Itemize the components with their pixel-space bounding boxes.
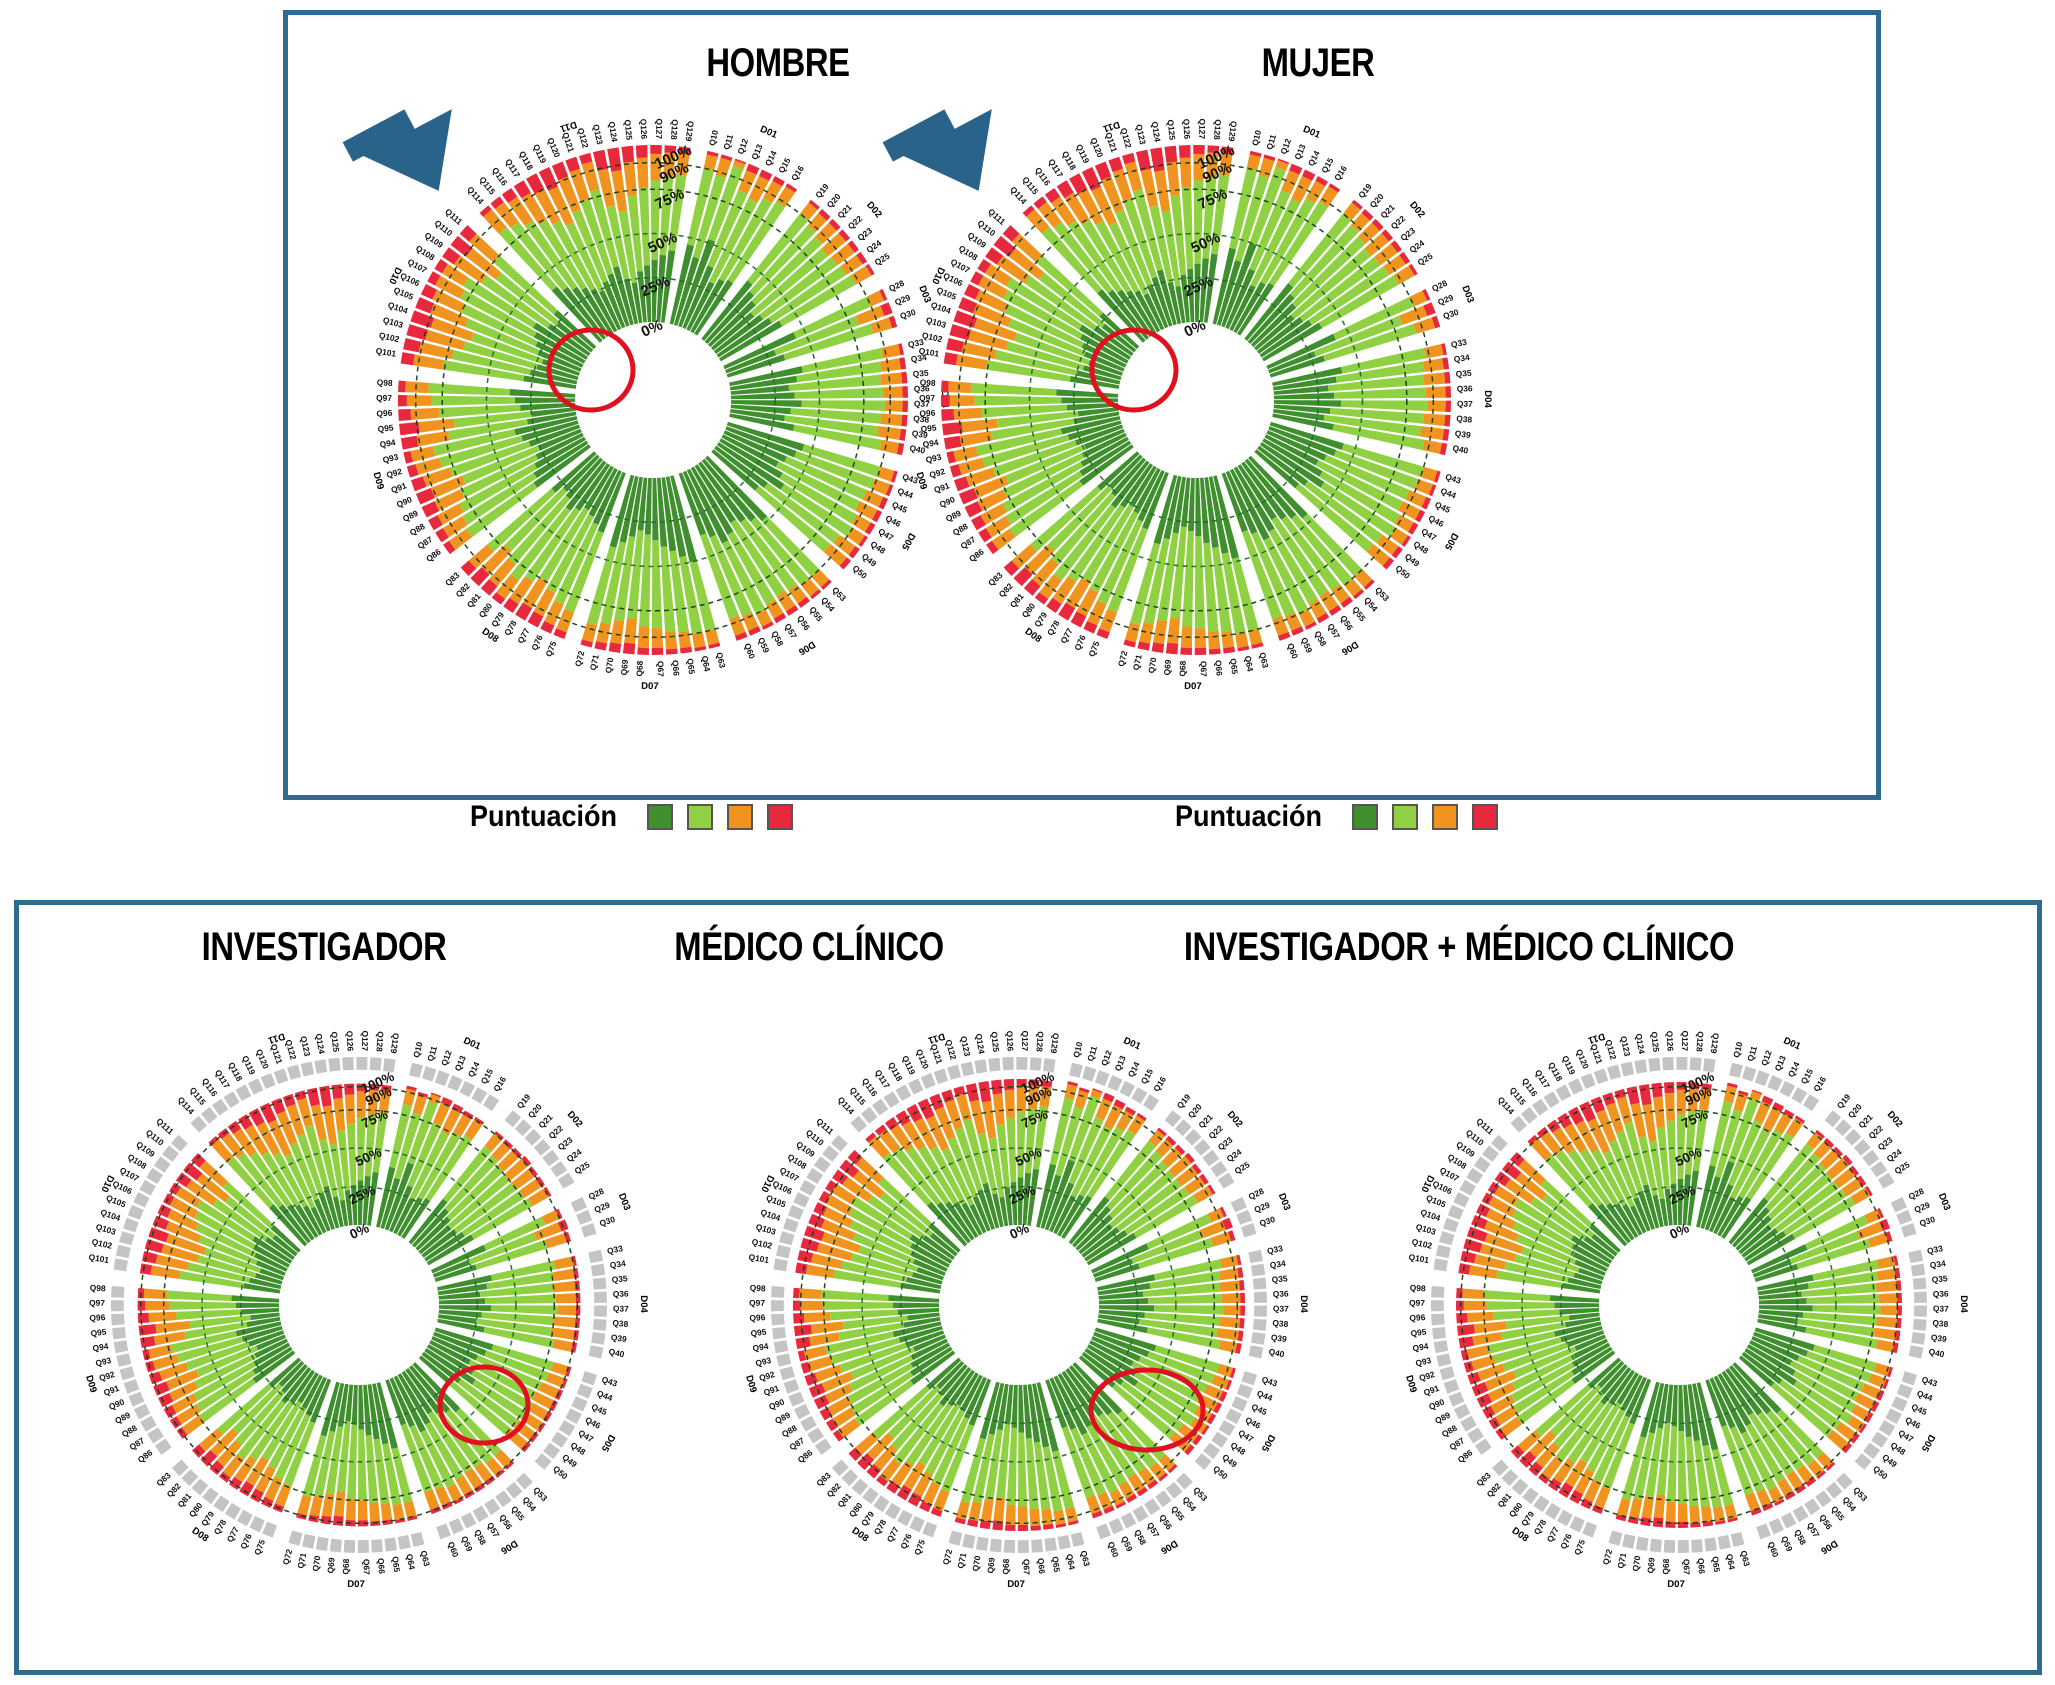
bar-segment-gray [1144,1498,1160,1515]
bar-segment-gray [807,1427,824,1443]
question-label: Q91 [102,1383,121,1398]
bar-segment-gray [885,1503,901,1520]
question-label: Q87 [1447,1435,1466,1452]
question-label: Q70 [1630,1555,1642,1572]
bar-segment-gray [559,1420,576,1436]
bar-segment-gray [800,1416,817,1432]
bar-segment-gray [551,1161,568,1177]
bar-segment-orange [801,1301,824,1311]
question-label: Q30 [598,1214,616,1229]
bar-segment-gray [1071,1532,1085,1547]
bar-segment-gray [111,1314,124,1326]
bar-segment-gray [1755,1070,1770,1086]
bar-segment-gray [591,1332,605,1345]
legend-swatch-light-green [1392,804,1418,830]
question-label: Q11 [425,1045,439,1063]
bar-segment-gray [1434,1258,1448,1271]
bar-segment-gray [112,1327,126,1339]
question-label: Q14 [466,1060,482,1079]
domain-label: D10 [1418,1173,1436,1194]
bar-segment-orange [1474,1321,1507,1333]
question-label: Q105 [392,285,415,302]
bar-segment-orange [1462,1288,1484,1298]
bar-segment-orange [1880,1305,1897,1315]
question-label: Q127 [654,118,664,139]
bar-segment-gray [1454,1404,1470,1419]
bar-segment-gray [435,1070,450,1086]
question-label: Q10 [707,129,721,147]
question-label: Q102 [751,1236,774,1250]
bar-segment-gray [1236,1210,1252,1225]
bar-segment-gray [1569,1516,1584,1532]
question-label: Q86 [967,546,986,564]
domain-label: D06 [1159,1537,1180,1556]
question-label: Q93 [1414,1355,1432,1368]
question-label: Q36 [1273,1288,1289,1299]
bar-segment-gray [1031,1539,1043,1553]
question-label: Q13 [1292,142,1308,161]
question-label: Q123 [958,1035,972,1057]
question-label: Q16 [789,163,806,182]
question-label: Q123 [298,1035,312,1057]
bar-segment-gray [128,1392,144,1407]
domain-label: D07 [1667,1579,1685,1590]
bar-segment-red [944,352,958,365]
bar-segment-red [575,1318,580,1328]
bar-segment-gray [1044,1537,1057,1551]
question-label: Q13 [452,1054,468,1073]
bar-segment-orange [411,408,440,420]
question-label: Q53 [1373,585,1391,604]
domain-label: D09 [743,1374,759,1394]
bar-segment-orange [145,1301,170,1311]
question-label: Q98 [919,377,936,388]
question-label: Q103 [95,1222,118,1237]
legend-swatch-dark-green [1352,804,1378,830]
question-label: Q90 [1427,1396,1446,1412]
question-label: Q95 [1410,1327,1427,1339]
question-label: Q34 [1269,1258,1286,1270]
question-label: Q92 [758,1369,776,1383]
bar-segment-gray [1018,1540,1029,1553]
question-label: Q12 [735,137,750,156]
question-label: Q92 [98,1369,116,1383]
top-panel: HOMBRE MUJER Q10Q11Q12Q13Q14Q15Q16D01Q19… [283,10,1881,800]
bar-segment-gray [1444,1379,1460,1394]
bar-segment-orange [553,1281,575,1292]
question-label: Q125 [989,1031,1001,1053]
bar-segment-gray [788,1392,804,1407]
question-label: Q97 [919,393,935,403]
question-label: Q12 [439,1049,454,1068]
bar-segment-orange [981,1499,994,1522]
bar-segment-orange [1701,1506,1712,1522]
bar-segment-gray [948,1531,962,1546]
question-label: Q22 [846,213,865,231]
question-label: Q36 [1933,1288,1949,1299]
question-label: Q39 [1454,428,1471,440]
bar-segment-gray [1704,1537,1717,1551]
question-label: Q55 [1829,1504,1847,1523]
bar-segment-orange [334,1491,345,1516]
bar-segment-orange [665,631,677,649]
question-label: Q58 [1313,629,1329,648]
question-label: Q24 [1225,1146,1244,1163]
question-label: Q119 [531,142,549,165]
question-label: Q127 [1020,1030,1030,1051]
bar-segment-gray [1459,1180,1475,1196]
bar-segment-gray [1896,1210,1912,1225]
bar-segment-orange [1713,1507,1725,1522]
bar-segment-red [139,1324,157,1336]
question-label: Q64 [700,655,713,673]
bar-segment-gray [1891,1396,1907,1411]
chart-title-investigador-medico: INVESTIGADOR + MÉDICO CLÍNICO [1131,925,1787,970]
bar-segment-gray [1791,1087,1807,1104]
bar-segment-gray [1431,1300,1444,1311]
bar-segment-gray [111,1286,124,1298]
domain-label: D06 [1819,1537,1840,1556]
bar-segment-red [1651,1083,1662,1098]
bar-segment-gray [1237,1384,1253,1399]
bar-segment-gray [342,1057,354,1070]
question-label: Q94 [922,437,940,450]
bar-segment-red [1444,415,1450,427]
question-label: Q88 [951,521,970,538]
radial-plot: Q10Q11Q12Q13Q14Q15Q16D01Q19Q20Q21Q22Q23Q… [699,985,1339,1625]
question-label: Q79 [199,1509,216,1528]
question-label: Q128 [1034,1031,1045,1052]
bar-segment-gray [1544,1091,1560,1108]
question-label: Q37 [1457,399,1473,409]
question-label: Q125 [623,119,635,141]
bar-segment-gray [1557,1510,1573,1526]
question-label: Q57 [1326,622,1343,641]
question-label: Q120 [1574,1048,1591,1071]
question-label: Q64 [404,1553,417,1571]
bar-segment-gray [495,1490,511,1507]
question-label: Q87 [416,534,435,551]
question-label: Q128 [1694,1031,1705,1052]
question-label: Q25 [1233,1159,1252,1176]
question-label: Q77 [225,1525,241,1544]
question-label: Q35 [1931,1273,1948,1284]
bar-segment-gray [1133,1506,1149,1523]
bar-segment-gray [116,1353,131,1367]
bar-segment-gray [571,1197,587,1212]
question-label: Q10 [1071,1041,1085,1059]
bar-segment-gray [1678,1540,1689,1553]
question-label: Q11 [1264,133,1278,151]
bar-segment-gray [1891,1197,1907,1212]
question-label: Q93 [925,452,943,465]
bar-segment-gray [1448,1205,1464,1220]
bar-segment-red [1164,146,1177,163]
question-label: Q124 [607,121,620,143]
bar-segment-gray [1676,1057,1687,1070]
bar-segment-gray [314,1059,327,1073]
bar-segment-orange [419,419,455,433]
chart-title-investigador: INVESTIGADOR [131,925,516,970]
question-label: Q46 [1427,513,1446,529]
radial-plot: Q10Q11Q12Q13Q14Q15Q16D01Q19Q20Q21Q22Q23Q… [1359,985,1999,1625]
bar-segment-red [650,145,662,154]
bar-segment-gray [909,1516,924,1532]
question-label: Q86 [136,1447,155,1465]
bar-segment-gray [1436,1353,1451,1367]
bar-segment-gray [897,1510,913,1526]
bar-segment-gray [1911,1264,1925,1277]
bar-segment-gray [1131,1087,1147,1104]
bar-segment-gray [1913,1278,1927,1290]
question-label: Q86 [424,546,443,564]
question-label: Q86 [1456,1447,1475,1465]
bar-segment-gray [1650,1539,1662,1553]
question-label: Q79 [1519,1509,1536,1528]
bar-segment-red [652,648,664,655]
question-label: Q81 [465,591,483,610]
radial-chart-mujer[interactable]: Q10Q11Q12Q13Q14Q15Q16D01Q19Q20Q21Q22Q23Q… [866,70,1526,730]
bar-segment-red [1193,145,1205,154]
question-label: Q93 [754,1355,772,1368]
domain-label: D09 [1403,1374,1419,1394]
question-label: Q124 [974,1033,987,1055]
question-label: Q59 [459,1534,475,1553]
domain-label: D06 [796,638,817,657]
question-label: Q77 [885,1525,901,1544]
question-label: Q66 [1696,1558,1707,1575]
bar-segment-orange [993,1497,1004,1521]
question-label: Q29 [593,1200,612,1215]
bar-segment-red [1150,147,1165,171]
bar-segment-gray [1109,1518,1124,1534]
bar-segment-gray [225,1503,241,1520]
question-label: Q96 [89,1312,106,1323]
question-label: Q125 [1649,1031,1661,1053]
question-label: Q55 [509,1504,527,1523]
question-label: Q46 [1244,1415,1263,1431]
question-label: Q35 [1455,368,1472,379]
domain-label: D07 [1007,1579,1025,1590]
bar-segment-gray [1474,1156,1491,1172]
question-label: Q40 [1452,443,1470,456]
question-label: Q128 [374,1031,385,1052]
question-label: Q64 [1064,1553,1077,1571]
bar-segment-gray [1248,1250,1263,1263]
question-label: Q78 [1532,1517,1549,1536]
bar-segment-gray [1475,1439,1492,1455]
bar-segment-gray [344,1540,355,1553]
question-label: Q65 [1050,1556,1062,1573]
bar-segment-gray [776,1245,791,1259]
bar-segment-orange [392,1504,404,1521]
bar-segment-gray [1767,1075,1782,1091]
bar-segment-gray [1556,1085,1572,1101]
question-label: Q71 [955,1552,968,1570]
domain-label: D11 [1586,1030,1606,1046]
bar-segment-orange [1653,1097,1665,1128]
domain-label: D02 [1885,1109,1905,1130]
bar-segment-gray [535,1453,552,1470]
radial-chart-medico[interactable]: Q10Q11Q12Q13Q14Q15Q16D01Q19Q20Q21Q22Q23Q… [699,985,1339,1625]
question-label: Q45 [590,1401,609,1417]
question-label: Q65 [1228,658,1240,675]
question-label: Q120 [914,1048,931,1071]
bar-segment-red [621,146,634,163]
bar-segment-gray [287,1065,301,1080]
question-label: Q25 [1416,251,1435,268]
bar-segment-light-green [491,1305,557,1314]
question-label: Q120 [254,1048,271,1071]
question-label: Q34 [1929,1258,1946,1270]
bar-segment-orange [1629,1498,1642,1518]
bar-segment-gray [961,1062,974,1077]
bar-segment-red [607,147,622,171]
question-label: Q80 [477,601,495,620]
question-label: Q44 [1916,1388,1935,1403]
question-label: Q40 [1928,1346,1946,1359]
question-label: Q56 [1338,613,1355,632]
question-label: Q34 [1453,352,1470,364]
question-label: Q78 [872,1517,889,1536]
question-label: Q83 [443,570,462,588]
question-label: Q57 [1805,1520,1822,1539]
bar-segment-orange [1654,1494,1665,1518]
bar-segment-gray [1211,1432,1228,1448]
question-label: Q68 [1660,1558,1671,1575]
bar-segment-gray [119,1231,134,1245]
bar-segment-gray [1155,1490,1171,1507]
bar-segment-red [1463,1239,1482,1253]
question-label: Q103 [925,315,948,330]
bar-segment-gray [934,1068,948,1084]
bar-segment-red [941,409,954,421]
question-label: Q88 [1440,1423,1459,1440]
bar-segment-light-green [1154,1305,1223,1314]
bar-segment-gray [815,1439,832,1455]
bar-segment-orange [1876,1340,1894,1353]
bar-segment-gray [154,1156,171,1172]
question-label: Q43 [1444,471,1462,485]
question-label: Q79 [489,610,506,629]
question-label: Q50 [1211,1463,1230,1481]
bar-segment-red [140,1263,152,1274]
bar-segment-dark-green [888,1295,939,1302]
question-label: Q63 [1257,651,1271,669]
question-label: Q72 [280,1548,294,1566]
question-label: Q28 [1247,1186,1266,1202]
bar-segment-gray [1594,1068,1608,1084]
bar-segment-gray [794,1404,810,1419]
domain-label: D01 [1782,1035,1803,1052]
bar-segment-gray [1863,1443,1880,1459]
domain-label: D02 [1225,1109,1245,1130]
bar-segment-orange [1876,1269,1896,1281]
question-label: Q35 [611,1273,628,1284]
bar-segment-gray [1909,1345,1924,1358]
question-label: Q28 [1430,278,1449,294]
domain-label: D06 [1339,638,1360,657]
question-label: Q58 [1792,1528,1808,1547]
question-label: Q30 [1258,1214,1276,1229]
legend-label: Puntuación [470,800,617,834]
question-label: Q129 [389,1032,402,1054]
bar-segment-orange [358,1500,368,1520]
question-label: Q105 [935,285,958,302]
question-label: Q80 [1020,601,1038,620]
bar-segment-gray [783,1218,799,1233]
question-label: Q47 [1420,526,1439,543]
bar-segment-gray [774,1258,788,1271]
question-label: Q20 [825,191,843,210]
question-label: Q69 [325,1557,337,1574]
bar-segment-orange [1005,1505,1015,1525]
question-label: Q25 [573,1159,592,1176]
domain-label: D10 [386,265,404,286]
radial-chart-investigador[interactable]: Q10Q11Q12Q13Q14Q15Q16D01Q19Q20Q21Q22Q23Q… [39,985,679,1625]
question-label: Q89 [1433,1410,1452,1426]
question-label: Q45 [1433,499,1452,515]
bar-segment-red [1664,1082,1674,1093]
bar-segment-red [1445,401,1451,413]
bar-segment-gray [1885,1408,1901,1424]
question-label: Q75 [1572,1538,1587,1557]
question-label: Q86 [796,1447,815,1465]
bar-segment-gray [1901,1223,1917,1237]
bar-segment-gray [793,1192,809,1207]
bar-segment-orange [637,157,649,188]
bar-segment-red [941,381,949,393]
question-label: Q39 [1930,1332,1947,1344]
bar-segment-gray [593,1278,607,1290]
bar-segment-red [978,1081,991,1102]
bar-segment-orange [1125,622,1140,642]
bar-segment-light-green [1018,1433,1027,1507]
domain-label: D05 [598,1433,616,1454]
bar-segment-orange [369,1502,380,1521]
bar-segment-red [138,1313,149,1323]
bar-segment-orange [1195,628,1206,648]
bar-segment-gray [1203,1443,1220,1459]
question-label: Q75 [1086,639,1101,658]
radial-chart-both[interactable]: Q10Q11Q12Q13Q14Q15Q16D01Q19Q20Q21Q22Q23Q… [1359,985,1999,1625]
bar-segment-gray [1664,1540,1675,1553]
question-label: Q66 [670,660,681,677]
bar-segment-red [142,1251,158,1264]
bar-segment-orange [729,615,745,635]
bar-segment-gray [1218,1173,1235,1189]
question-label: Q124 [1150,121,1163,143]
question-label: Q96 [749,1312,766,1323]
domain-label: D09 [913,471,929,491]
bar-segment-gray [884,1091,900,1108]
question-label: Q23 [1398,225,1417,243]
question-label: Q24 [565,1146,584,1163]
question-label: Q16 [1811,1074,1828,1093]
bar-segment-red [637,647,649,655]
question-label: Q20 [1368,191,1386,210]
question-label: Q92 [1418,1369,1436,1383]
bar-segment-red [398,381,406,393]
bar-segment-gray [134,1404,150,1419]
bar-segment-gray [1096,1523,1111,1539]
question-label: Q56 [1157,1512,1174,1531]
question-label: Q124 [314,1033,327,1055]
question-label: Q94 [379,437,397,450]
bar-segment-light-green [358,1429,367,1500]
domain-label: D08 [480,626,501,645]
domain-label: D11 [926,1030,946,1046]
